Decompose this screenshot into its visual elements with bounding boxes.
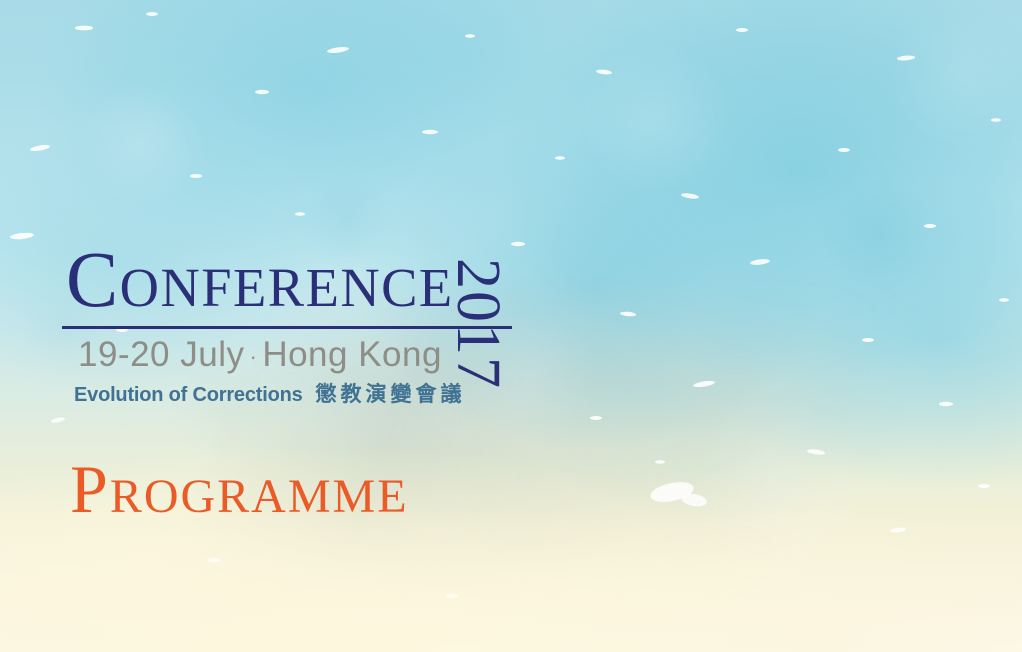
- conference-subtitle: Evolution of Corrections懲教演變會議: [74, 378, 466, 408]
- conference-dates: 19-20 July: [78, 335, 244, 374]
- document-type-label: Programme: [70, 452, 409, 526]
- subtitle-english: Evolution of Corrections: [74, 384, 303, 406]
- title-divider-rule: [62, 326, 512, 329]
- date-location-line: 19-20 July·Hong Kong: [78, 332, 442, 380]
- page-title: Conference: [66, 240, 454, 322]
- cover-content: Conference 2017 19-20 July·Hong Kong Evo…: [0, 0, 1022, 652]
- title-row: Conference 2017: [62, 240, 602, 324]
- conference-programme-cover: Conference 2017 19-20 July·Hong Kong Evo…: [0, 0, 1022, 652]
- subtitle-chinese: 懲教演變會議: [316, 382, 466, 406]
- date-location-separator: ·: [244, 344, 262, 369]
- conference-location: Hong Kong: [262, 335, 442, 374]
- conference-year: 2017: [447, 258, 509, 390]
- conference-title-block: Conference 2017 19-20 July·Hong Kong Evo…: [62, 240, 602, 324]
